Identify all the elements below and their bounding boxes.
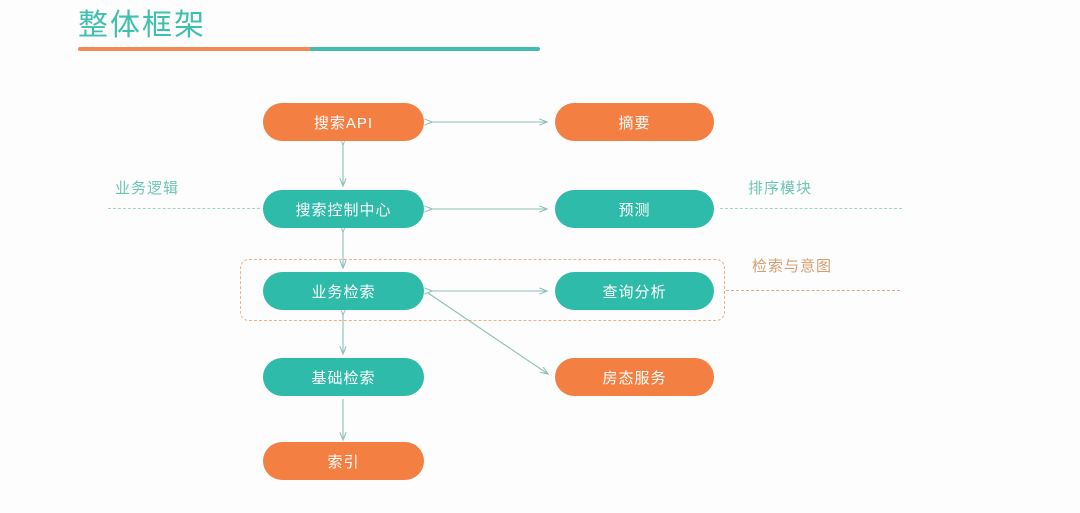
node-index[interactable]: 索引 (263, 442, 424, 480)
diagram-canvas: 整体框架 业务逻辑 排序模块 检索与意图 (0, 0, 1080, 513)
title-underline (78, 47, 540, 51)
zone-line-retrieval-intent (726, 290, 900, 291)
zone-line-business-logic (108, 208, 260, 209)
node-prediction[interactable]: 预测 (555, 190, 714, 228)
node-business-search[interactable]: 业务检索 (263, 272, 424, 310)
edge-layer (0, 0, 1080, 513)
page-title: 整体框架 (78, 6, 206, 46)
title-block: 整体框架 (78, 6, 540, 54)
node-summary[interactable]: 摘要 (555, 103, 714, 141)
node-basic-search[interactable]: 基础检索 (263, 358, 424, 396)
zone-label-ranking-module: 排序模块 (748, 180, 812, 198)
zone-label-business-logic: 业务逻辑 (115, 180, 179, 198)
zone-line-ranking-module (720, 208, 902, 209)
node-search-control[interactable]: 搜索控制中心 (263, 190, 424, 228)
node-search-api[interactable]: 搜索API (263, 103, 424, 141)
node-room-service[interactable]: 房态服务 (555, 358, 714, 396)
node-query-analysis[interactable]: 查询分析 (555, 272, 714, 310)
zone-label-retrieval-intent: 检索与意图 (752, 258, 832, 276)
title-underline-teal-segment (310, 47, 540, 51)
title-underline-orange-segment (78, 47, 310, 51)
